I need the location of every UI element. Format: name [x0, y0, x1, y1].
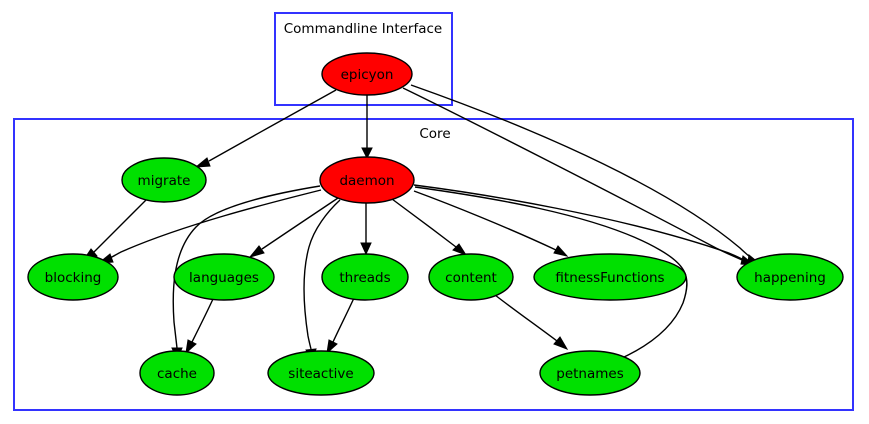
node-fitnessfunctions[interactable]: fitnessFunctions — [534, 254, 686, 300]
edge-threads-siteactive — [327, 298, 354, 353]
node-content[interactable]: content — [429, 254, 513, 300]
node-shape-blocking[interactable] — [28, 254, 118, 300]
edge-daemon-blocking — [99, 190, 321, 263]
edge-daemon-threads — [361, 203, 371, 254]
cluster-label-core: Core — [419, 126, 450, 142]
node-shape-cache[interactable] — [140, 351, 214, 395]
node-cache[interactable]: cache — [140, 351, 214, 395]
node-shape-daemon[interactable] — [320, 157, 414, 203]
node-shape-languages[interactable] — [174, 254, 274, 300]
edge-epicyon-migrate — [196, 90, 336, 167]
node-shape-petnames[interactable] — [540, 351, 640, 395]
edge-daemon-fitnessfunctions — [414, 191, 567, 256]
node-shape-threads[interactable] — [322, 254, 408, 300]
node-shape-migrate[interactable] — [122, 158, 206, 202]
node-shape-content[interactable] — [429, 254, 513, 300]
node-happening[interactable]: happening — [737, 254, 843, 300]
node-petnames[interactable]: petnames — [540, 351, 640, 395]
graph-root: Commandline Interface Core — [0, 0, 869, 424]
node-shape-epicyon[interactable] — [322, 53, 412, 95]
dependency-graph-canvas: Commandline Interface Core — [0, 0, 869, 424]
node-threads[interactable]: threads — [322, 254, 408, 300]
node-siteactive[interactable]: siteactive — [268, 351, 374, 395]
edge-epicyon-fitnessfunctions — [403, 88, 769, 270]
node-migrate[interactable]: migrate — [122, 158, 206, 202]
node-blocking[interactable]: blocking — [28, 254, 118, 300]
node-languages[interactable]: languages — [174, 254, 274, 300]
edge-migrate-blocking — [83, 200, 146, 261]
edge-epicyon-happening — [411, 85, 760, 264]
node-daemon[interactable]: daemon — [320, 157, 414, 203]
edge-daemon-content — [392, 199, 466, 255]
node-shape-fitnessfunctions[interactable] — [534, 254, 686, 300]
edge-languages-cache — [186, 299, 213, 353]
node-shape-happening[interactable] — [737, 254, 843, 300]
edge-content-petnames — [495, 295, 567, 349]
node-epicyon[interactable]: epicyon — [322, 53, 412, 95]
node-shape-siteactive[interactable] — [268, 351, 374, 395]
edge-daemon-languages — [250, 198, 338, 257]
cluster-label-cli: Commandline Interface — [284, 21, 442, 37]
